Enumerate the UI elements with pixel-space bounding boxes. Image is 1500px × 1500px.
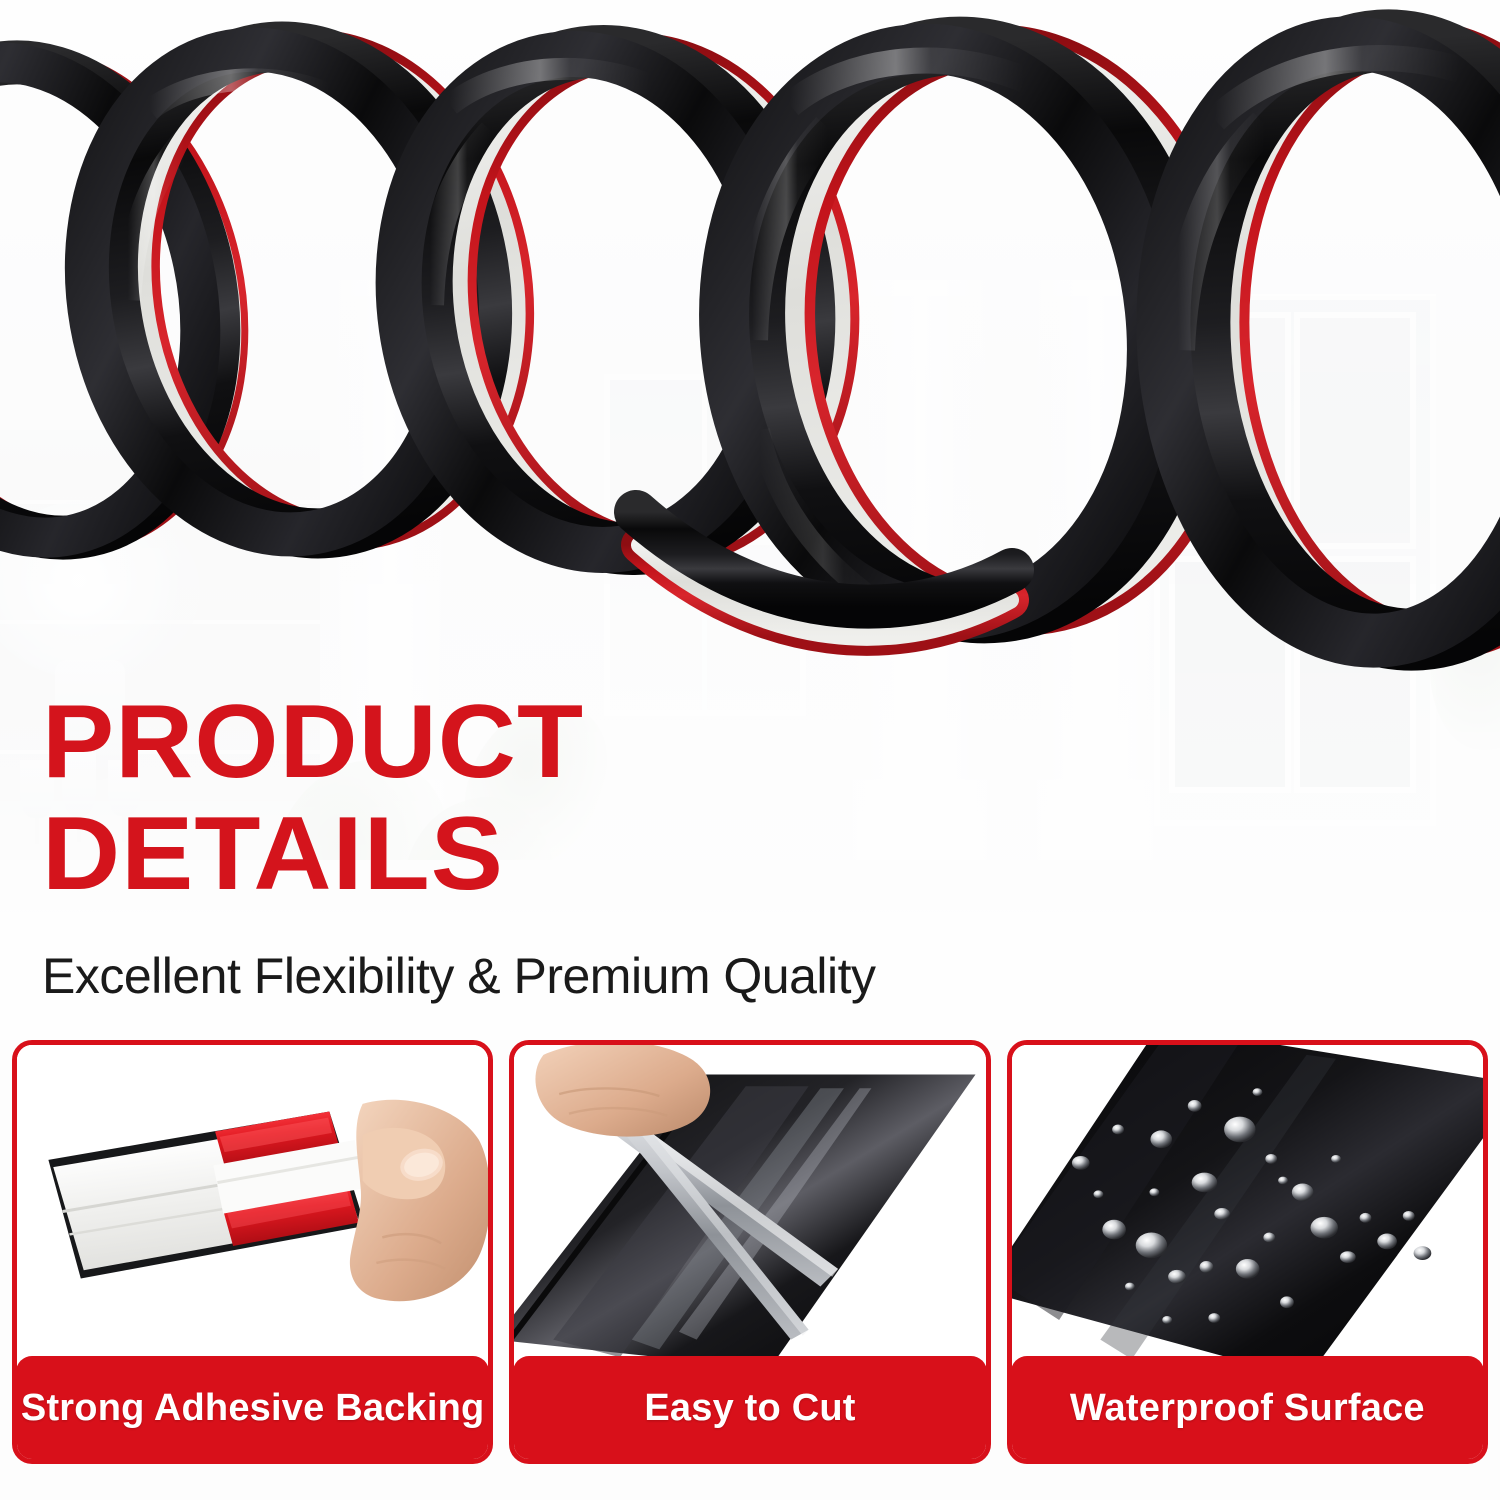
weatherstrip-coil-image — [0, 0, 1500, 760]
feature-card-media — [17, 1045, 488, 1370]
feature-card-caption-text: Waterproof Surface — [1070, 1387, 1425, 1430]
page-subtitle: Excellent Flexibility & Premium Quality — [42, 946, 876, 1006]
page-title-line-2: DETAILS — [42, 802, 978, 906]
feature-card-media — [1012, 1045, 1483, 1370]
feature-card-caption-text: Easy to Cut — [644, 1387, 855, 1430]
feature-card-caption: Easy to Cut — [513, 1356, 986, 1460]
coil-loop-5 — [1144, 27, 1500, 654]
hand — [350, 1100, 488, 1301]
feature-card-caption: Strong Adhesive Backing — [16, 1356, 489, 1460]
product-detail-banner: PRODUCT DETAILS Excellent Flexibility & … — [0, 0, 1500, 1500]
feature-card-strong-adhesive-backing[interactable]: Strong Adhesive Backing — [12, 1040, 493, 1464]
feature-card-caption: Waterproof Surface — [1011, 1356, 1484, 1460]
feature-card-media — [514, 1045, 985, 1370]
page-title-line-1: PRODUCT — [42, 690, 978, 794]
feature-card-list: Strong Adhesive Backing — [12, 1040, 1488, 1464]
feature-card-caption-text: Strong Adhesive Backing — [21, 1387, 485, 1430]
page-title: PRODUCT DETAILS — [42, 690, 942, 906]
feature-card-easy-to-cut[interactable]: Easy to Cut — [509, 1040, 990, 1464]
feature-card-waterproof-surface[interactable]: Waterproof Surface — [1007, 1040, 1488, 1464]
